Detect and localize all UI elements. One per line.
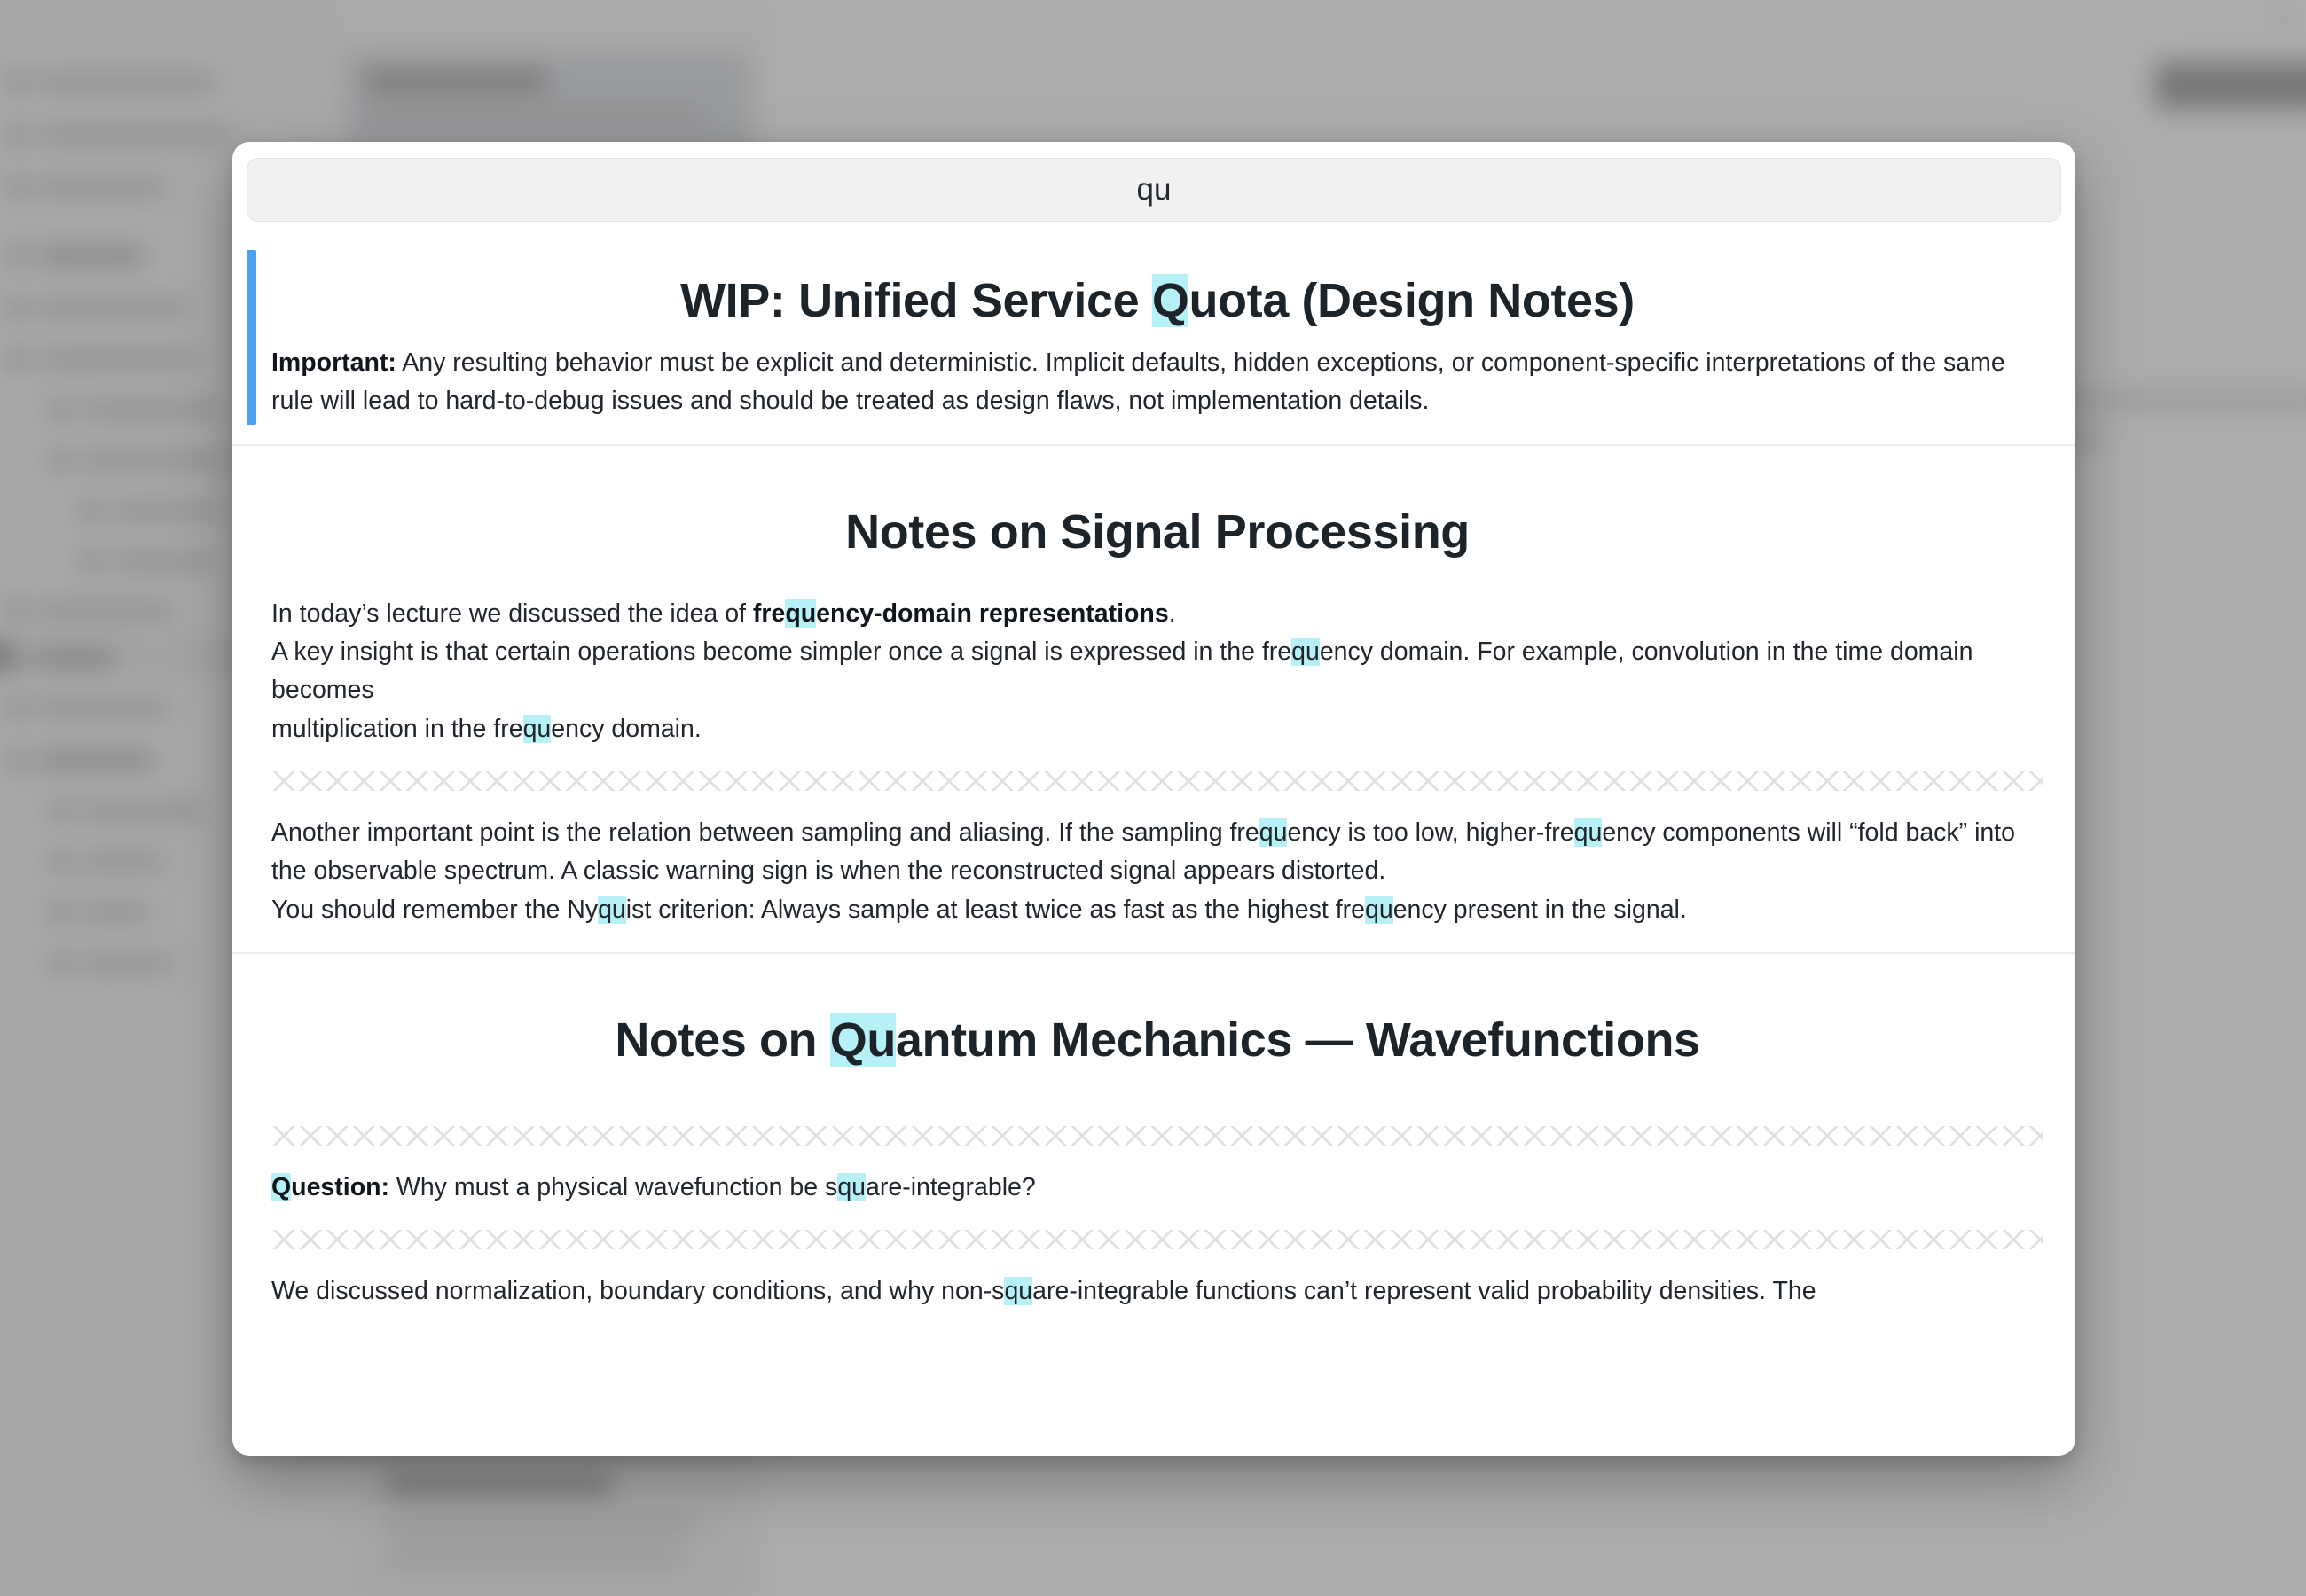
search-modal: WIP: Unified Service Quota (Design Notes…: [232, 142, 2075, 1456]
search-bar: [232, 142, 2075, 231]
snippet-text: multiplication in the fre: [271, 715, 523, 743]
search-result-title-text: Notes on: [615, 1013, 829, 1067]
search-result-snippet: We discussed normalization, boundary con…: [271, 1272, 2043, 1310]
snippet-strong: Important:: [271, 348, 396, 377]
zigzag-divider: [271, 771, 2043, 791]
snippet-text: A key insight is that certain operations…: [271, 638, 1291, 666]
zigzag-divider: [271, 1126, 2043, 1146]
search-match-highlight: Q: [1152, 274, 1189, 327]
search-result-item[interactable]: WIP: Unified Service Quota (Design Notes…: [232, 231, 2075, 444]
snippet-text: ency present in the signal.: [1393, 896, 1687, 924]
search-result-title-text: uota (Design Notes): [1188, 274, 1634, 327]
search-match-highlight: qu: [598, 896, 626, 924]
snippet-text: .: [1169, 599, 1176, 628]
search-result-item[interactable]: Notes on Quantum Mechanics — Wavefunctio…: [232, 952, 2075, 1334]
snippet-strong: fre: [753, 599, 785, 628]
snippet-text: We discussed normalization, boundary con…: [271, 1277, 1004, 1305]
snippet-text: fre: [753, 599, 785, 628]
snippet-text: Why must a physical wavefunction be s: [389, 1173, 837, 1201]
search-result-title: Notes on Quantum Mechanics — Wavefunctio…: [271, 974, 2043, 1103]
search-match-highlight: qu: [1259, 818, 1288, 847]
search-match-highlight: Qu: [830, 1013, 896, 1067]
search-result-body: Notes on Quantum Mechanics — Wavefunctio…: [232, 954, 2075, 1334]
search-match-highlight: qu: [1291, 638, 1320, 666]
search-result-title: WIP: Unified Service Quota (Design Notes…: [271, 250, 2043, 344]
search-result-title-text: WIP: Unified Service: [680, 274, 1152, 327]
search-match-highlight: qu: [523, 715, 552, 743]
search-match-highlight: qu: [1365, 896, 1393, 924]
search-results-list[interactable]: WIP: Unified Service Quota (Design Notes…: [232, 231, 2075, 1456]
snippet-text: In today’s lecture we discussed the idea…: [271, 599, 753, 628]
search-match-highlight: qu: [1574, 818, 1603, 847]
search-input[interactable]: [247, 158, 2061, 222]
snippet-text: ency-domain representations: [816, 599, 1169, 628]
search-result-item[interactable]: Notes on Signal ProcessingIn today’s lec…: [232, 444, 2075, 952]
snippet-text: are-integrable functions can’t represent…: [1032, 1277, 1816, 1305]
search-result-title-text: Notes on Signal Processing: [845, 505, 1470, 559]
search-match-highlight: qu: [785, 599, 816, 628]
snippet-text: Important:: [271, 348, 396, 377]
snippet-text: ency domain.: [551, 715, 702, 743]
search-result-snippet: Another important point is the relation …: [271, 814, 2043, 929]
search-result-title: Notes on Signal Processing: [271, 465, 2043, 595]
search-result-snippet: In today’s lecture we discussed the idea…: [271, 595, 2043, 748]
search-result-title-text: antum Mechanics — Wavefunctions: [896, 1013, 1700, 1067]
search-match-highlight: Q: [271, 1173, 291, 1201]
snippet-text: Another important point is the relation …: [271, 818, 1259, 847]
snippet-text: Any resulting behavior must be explicit …: [271, 348, 2005, 415]
search-result-snippet: Question: Why must a physical wavefuncti…: [271, 1169, 2043, 1207]
snippet-text: ist criterion: Always sample at least tw…: [626, 896, 1365, 924]
search-match-highlight: qu: [1004, 1277, 1032, 1305]
snippet-strong: Q: [271, 1173, 291, 1201]
snippet-strong: ency-domain representations: [816, 599, 1169, 628]
snippet-text: are-integrable?: [866, 1173, 1036, 1201]
search-result-snippet: Important: Any resulting behavior must b…: [271, 344, 2043, 421]
snippet-strong: uestion:: [291, 1173, 389, 1201]
result-accent-bar: [247, 250, 256, 425]
snippet-text: uestion:: [291, 1173, 389, 1201]
snippet-strong: qu: [785, 599, 816, 628]
search-result-body: Notes on Signal ProcessingIn today’s lec…: [232, 446, 2075, 952]
search-match-highlight: qu: [837, 1173, 866, 1201]
snippet-text: ency is too low, higher-fre: [1287, 818, 1573, 847]
search-result-body: WIP: Unified Service Quota (Design Notes…: [232, 231, 2075, 444]
snippet-text: You should remember the Ny: [271, 896, 598, 924]
zigzag-divider: [271, 1230, 2043, 1249]
